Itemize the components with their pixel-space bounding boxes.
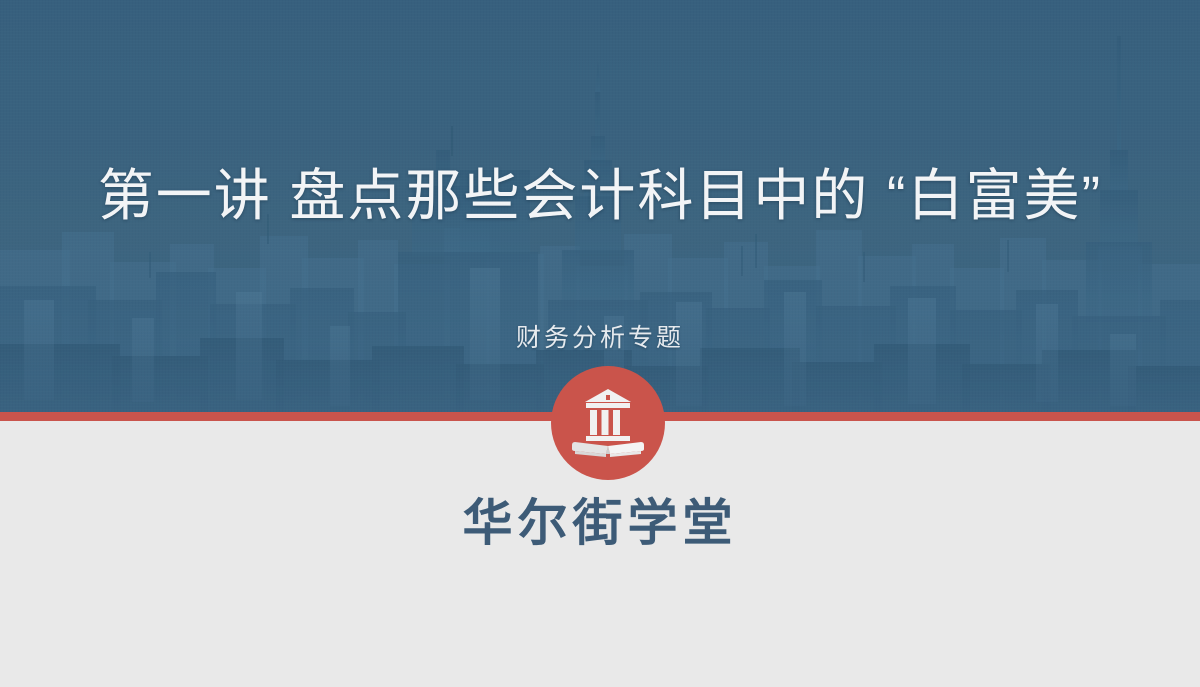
- brand-logo: [551, 366, 665, 480]
- bank-book-logo-icon: [551, 366, 665, 480]
- slide-subtitle: 财务分析专题: [0, 322, 1200, 354]
- slide-title: 第一讲 盘点那些会计科目中的 “白富美”: [0, 163, 1200, 229]
- presentation-slide: 第一讲 盘点那些会计科目中的 “白富美” 财务分析专题: [0, 0, 1200, 687]
- brand-name: 华尔街学堂: [0, 494, 1200, 552]
